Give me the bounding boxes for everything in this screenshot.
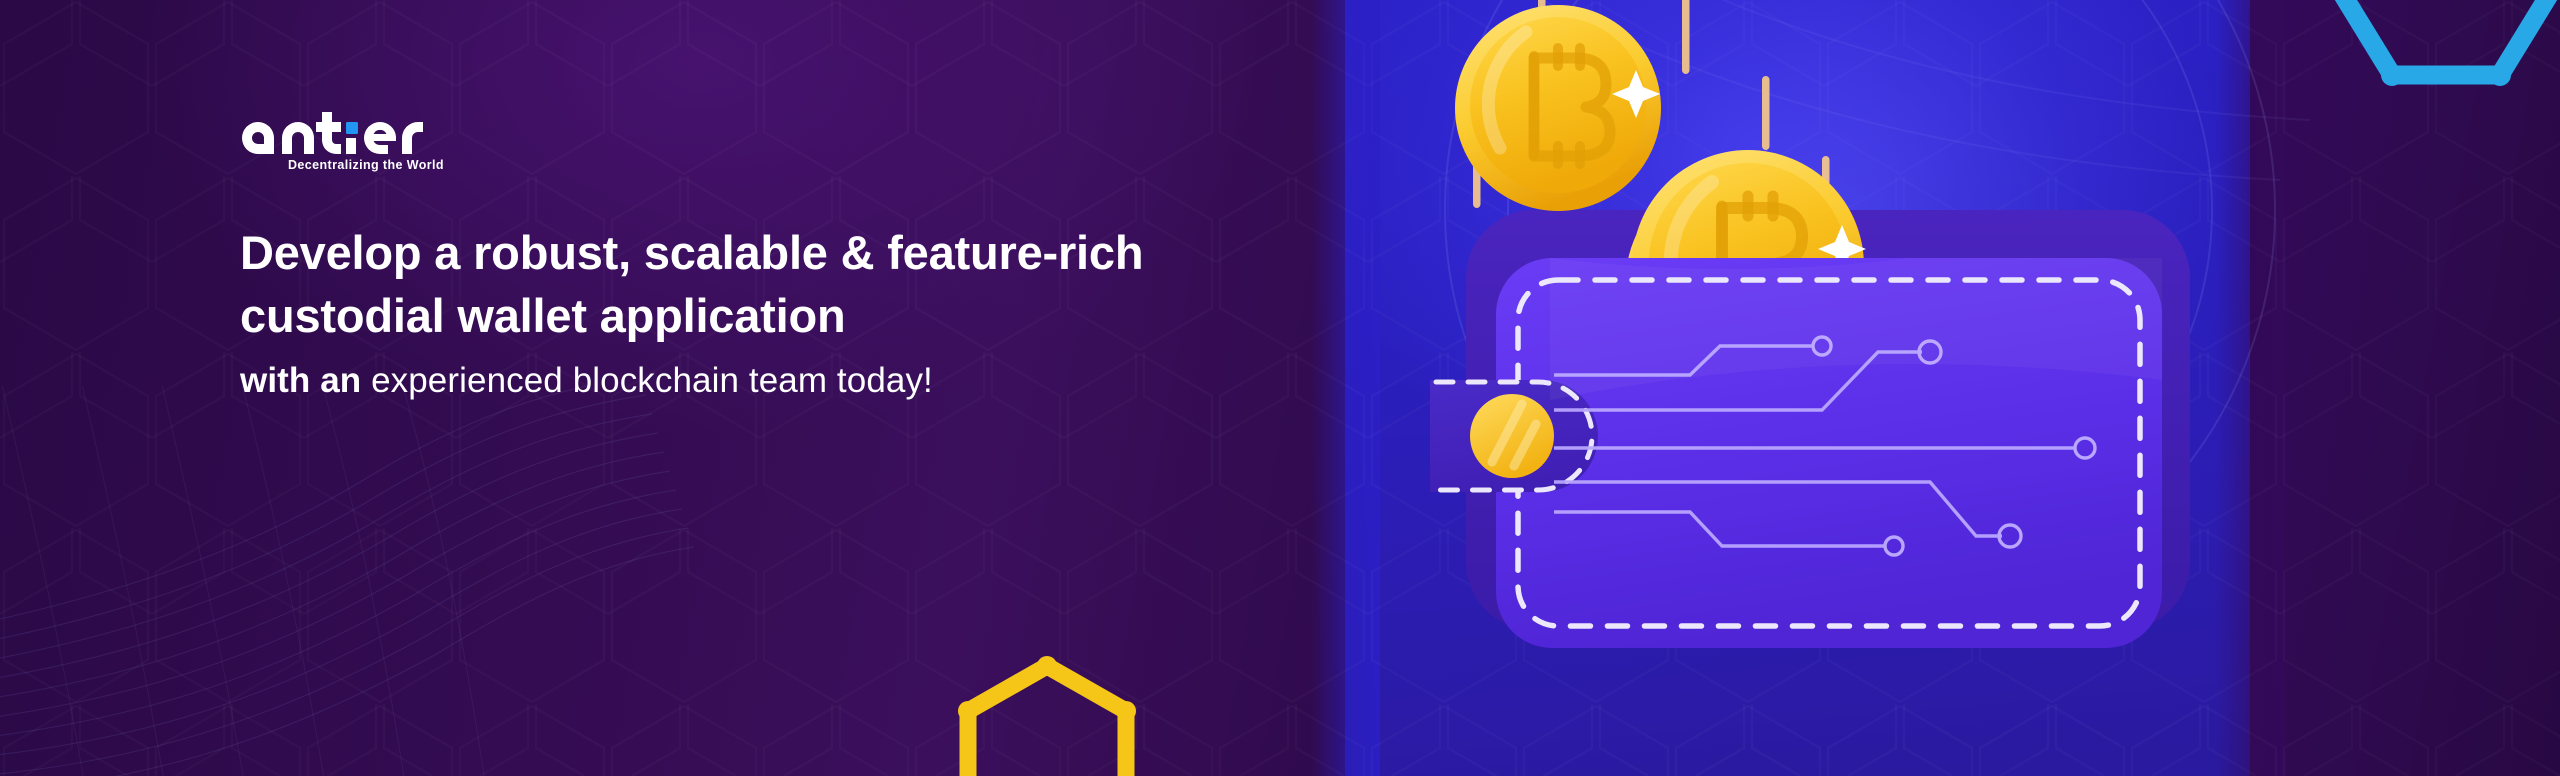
background-right-panel [2250, 0, 2560, 776]
logo-accent-dot [346, 122, 358, 134]
headline-line-2: custodial wallet application [240, 289, 846, 342]
logo-tagline: Decentralizing the World [288, 158, 444, 172]
wallet-clasp [1430, 380, 1598, 492]
crypto-wallet-illustration [1430, 0, 2250, 776]
subtitle-bold: with an [240, 361, 371, 400]
banner-content: Decentralizing the World Develop a robus… [240, 108, 1300, 404]
antier-logo[interactable]: Decentralizing the World [240, 108, 448, 170]
hero-banner: Decentralizing the World Develop a robus… [0, 0, 2560, 776]
subtitle-regular: experienced blockchain team today! [371, 361, 933, 400]
bitcoin-coin-floating [1455, 5, 1661, 211]
page-subtitle: with an experienced blockchain team toda… [240, 357, 1300, 404]
page-title: Develop a robust, scalable & feature-ric… [240, 222, 1300, 347]
headline-line-1: Develop a robust, scalable & feature-ric… [240, 226, 1143, 279]
